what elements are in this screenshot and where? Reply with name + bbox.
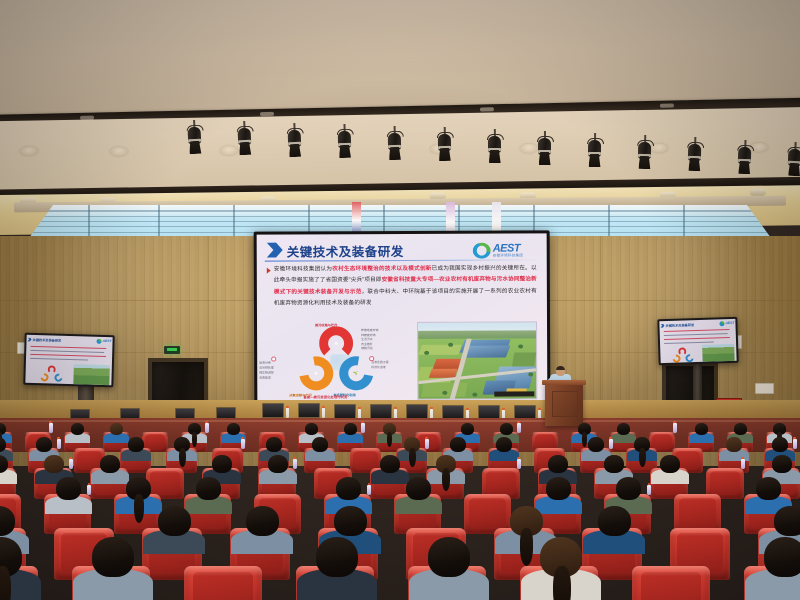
seat-part [74, 448, 105, 452]
audience-head [316, 537, 358, 577]
panel-mullion [18, 226, 782, 227]
wall-seam [208, 236, 209, 416]
node-label-top: 粪污收集与贮存 [315, 322, 337, 327]
audience-head [312, 437, 328, 452]
seat-part [469, 498, 506, 529]
table-nameplate [262, 403, 284, 418]
audience-head [56, 477, 81, 500]
seat-part [706, 468, 744, 473]
table-nameplate [370, 404, 392, 419]
wall-seam [600, 236, 601, 416]
node-icon: ♻ [334, 341, 338, 346]
audience-head [734, 423, 747, 435]
seat-part [254, 494, 301, 500]
cove-clip [750, 189, 766, 196]
seat-part [193, 572, 254, 600]
panel-mullion [18, 216, 782, 217]
recess-fixture [480, 107, 494, 111]
ponytail [134, 494, 145, 523]
monitor-text-line [30, 358, 88, 361]
seat-part [184, 566, 262, 576]
seat-part [641, 572, 702, 600]
water-bottle [367, 485, 371, 495]
monitor-text-line [664, 337, 730, 340]
audience-head [588, 437, 604, 452]
ponytail [442, 468, 450, 491]
seat-part [670, 528, 730, 536]
monitor-diagram-node [684, 353, 695, 364]
seat-part [314, 468, 352, 473]
water-bottle [517, 423, 521, 433]
water-bottle [69, 459, 73, 469]
ceiling-rosette [110, 146, 128, 155]
diagram-note-right: 标准化运维 [371, 365, 385, 369]
audience-head [44, 455, 64, 473]
stage-spotlight-icon [335, 124, 353, 161]
diagram-note-left: 微生物调控 [259, 371, 273, 375]
left-side-monitor[interactable]: 关键技术及装备研发 AEST [23, 333, 114, 387]
water-bottle [241, 439, 245, 449]
audience-head [772, 455, 792, 473]
ponytail [387, 432, 392, 447]
audience-head [726, 437, 742, 452]
monitor-diagram-node [678, 347, 686, 355]
slide-surface: 关键技术及装备研发 AEST 安徽环境科技集团 安徽环境科技集团认为农村生态环境… [257, 233, 548, 404]
monitor-slide-title: 关键技术及装备研发 [32, 337, 61, 343]
ponytail [179, 448, 186, 467]
seat-part [486, 471, 516, 495]
photo-caption-bar [494, 391, 534, 396]
seat-part [679, 498, 716, 529]
water-bottle [793, 439, 797, 449]
stage-spotlight-icon [185, 120, 204, 157]
right-monitor-screen: 关键技术及装备研发 AEST [659, 319, 736, 363]
seat [632, 566, 710, 600]
audience-head [756, 477, 781, 500]
diagram-note-left: 装备集成 [259, 376, 271, 380]
stage-spotlight-icon [586, 133, 603, 169]
stage-spotlight-icon [536, 131, 553, 167]
stage-spotlight-icon [686, 137, 704, 173]
seat-part [406, 528, 466, 536]
monitor-text-line [664, 333, 728, 336]
table-nameplate [298, 403, 320, 418]
diagram-note-top: 城镇污泥 [361, 347, 373, 351]
ponytail [0, 566, 11, 600]
auditorium-photo: 消防 关键技术及装备研发 AEST 安徽环境科技集团 安徽环境科技集团认为农村生… [0, 0, 800, 600]
audience-head [266, 437, 282, 452]
ponytail [520, 528, 534, 566]
audience-head [604, 455, 624, 473]
table-nameplate [406, 404, 428, 419]
audience-head [100, 455, 120, 473]
audience-head [36, 437, 52, 452]
diagram-caption: 畜禽—粪污资源化处理与利用 [303, 394, 347, 399]
slide-title: 关键技术及装备研发 [287, 241, 404, 261]
seat-part [649, 432, 675, 435]
ponytail [639, 448, 646, 467]
left-monitor-screen: 关键技术及装备研发 AEST [25, 335, 112, 385]
seat-part [534, 448, 565, 452]
monitor-logo: AEST [96, 339, 110, 344]
panel-mullion [18, 210, 782, 211]
panel-mullion [18, 221, 782, 222]
aerial-park-photo [417, 321, 537, 400]
audience-head [196, 477, 221, 500]
seat-part [532, 432, 558, 435]
diagram-node-top: ♻ [319, 326, 353, 360]
ponytail [582, 432, 587, 447]
audience-head [548, 455, 568, 473]
seat-part [350, 448, 381, 452]
title-divider [265, 259, 539, 262]
audience-head [428, 537, 470, 577]
water-bottle [673, 423, 677, 433]
seat-part [259, 432, 285, 435]
monitor-text-line [30, 346, 106, 349]
water-bottle [609, 439, 613, 449]
podium-top [542, 380, 586, 385]
audience-head [71, 423, 84, 435]
body-run: 安徽环境科技集团认为 [274, 266, 332, 272]
water-bottle [361, 423, 365, 433]
chevron-right-icon [660, 324, 664, 328]
cycle-diagram: ♻ ⚙ 🌱 粪污收集与贮存 厌氧发酵与产沼 有机肥料化利用 固液分离高效预处理微… [275, 326, 403, 399]
photo-element [472, 393, 477, 397]
seat-part [415, 432, 441, 435]
seat-part [146, 468, 184, 473]
photo-element [442, 391, 447, 395]
monitor-diagram-node [39, 372, 50, 383]
stage-spotlight-icon [736, 139, 754, 175]
stage-spotlight-icon [285, 122, 303, 159]
diagram-note-top: 生活污水 [361, 337, 373, 341]
seat-part [25, 432, 51, 435]
seat-part [142, 432, 168, 435]
seat-part [674, 494, 721, 500]
ceiling-rosette [220, 146, 238, 155]
audience-head [246, 506, 279, 536]
stage-spotlight-icon [636, 135, 653, 171]
led-presentation-screen[interactable]: 关键技术及装备研发 AEST 安徽环境科技集团 安徽环境科技集团认为农村生态环境… [254, 230, 551, 407]
water-bottle [286, 408, 289, 418]
logo-swoosh-icon [473, 243, 491, 259]
audience-head [334, 506, 367, 536]
audience-head [110, 423, 123, 435]
seat-part [150, 471, 180, 495]
audience-head [305, 423, 318, 435]
seat-part [212, 448, 243, 452]
audience-head [546, 477, 571, 500]
monitor-slide-title: 关键技术及装备研发 [665, 322, 694, 328]
water-bottle [205, 423, 209, 433]
node-icon: ⚙ [313, 370, 319, 376]
monitor-text-line [30, 350, 104, 353]
speaker-head [556, 366, 565, 376]
water-bottle [87, 485, 91, 495]
seat-part [464, 494, 511, 500]
water-bottle [425, 439, 429, 449]
audience-head [500, 423, 513, 435]
podium-front-panel [552, 391, 578, 417]
audience-head [774, 506, 800, 536]
audience-head [227, 423, 240, 435]
monitor-logo: AEST [719, 321, 733, 326]
note-dot [271, 357, 276, 362]
logo-wordmark: AEST [102, 339, 111, 343]
water-bottle [741, 459, 745, 469]
audience-head [336, 477, 361, 500]
seat [184, 566, 262, 600]
water-bottle [57, 439, 61, 449]
logo-swoosh-icon [96, 339, 101, 344]
monitor-photo-thumb [73, 364, 110, 385]
seat-part [672, 448, 703, 452]
monitor-diagram-node [48, 365, 56, 373]
ceiling-rosette [20, 146, 38, 155]
seat-part [652, 434, 672, 450]
right-side-monitor[interactable]: 关键技术及装备研发 AEST [657, 317, 738, 365]
recess-fixture [660, 103, 674, 107]
audience-head [616, 477, 641, 500]
monitor-diagram-node [53, 372, 64, 383]
node-icon: 🌱 [353, 370, 360, 377]
logo-swoosh-icon [719, 321, 724, 326]
audience-head [344, 423, 357, 435]
photo-element [448, 343, 453, 347]
exit-sign-icon [164, 346, 180, 354]
photo-element [518, 344, 523, 348]
audience-head [617, 423, 630, 435]
diagram-note-left: 固液分离 [259, 361, 271, 365]
seat-part [0, 494, 21, 500]
logo-wordmark: AEST [725, 321, 734, 325]
water-bottle [517, 459, 521, 469]
diagram-note-right: 沼液还田工程 [371, 360, 388, 364]
photo-element [424, 351, 429, 355]
audience-head [598, 506, 631, 536]
monitor-text-line [30, 354, 106, 357]
slide-header: 关键技术及装备研发 AEST 安徽环境科技集团 [267, 240, 539, 259]
bullet-arrow-icon [267, 268, 271, 274]
photo-element [528, 372, 533, 376]
audience-head [212, 455, 232, 473]
stage-spotlight-icon [235, 121, 254, 158]
audience-head [128, 437, 144, 452]
stage-spotlight-icon [486, 129, 503, 165]
seat-part [632, 566, 710, 576]
stage-spotlight-icon [386, 125, 404, 161]
diagram-note-left: 高效预处理 [259, 366, 273, 370]
stage-spotlight-icon [436, 127, 454, 163]
audience-head [461, 423, 474, 435]
audience-head [380, 455, 400, 473]
ponytail [409, 448, 416, 467]
audience-head [450, 437, 466, 452]
chevron-right-icon [267, 243, 283, 258]
slide-body-text: 安徽环境科技集团认为农村生态环境整治的技术以及模式创新已成为我国实现乡村振兴的关… [274, 263, 537, 310]
table-nameplate [334, 404, 356, 419]
water-bottle [49, 423, 53, 433]
photo-element [512, 352, 536, 366]
body-highlight-run: 农村生态环境整治的技术以及模式创新 [332, 266, 431, 272]
audience-head [772, 437, 788, 452]
monitor-text-line [664, 329, 730, 332]
logo-subtext: 安徽环境科技集团 [493, 253, 523, 258]
ponytail [192, 432, 197, 447]
audience-head [406, 477, 431, 500]
water-bottle [647, 485, 651, 495]
water-bottle [293, 459, 297, 469]
podium [545, 382, 583, 426]
monitor-photo-thumb [702, 344, 735, 362]
audience-head [92, 537, 134, 577]
stage-spotlight-icon [785, 142, 800, 179]
note-dot [369, 356, 374, 361]
seat-part [54, 528, 114, 536]
audience-head [158, 506, 191, 536]
wall-switch-plate[interactable] [755, 383, 774, 394]
seat-part [482, 468, 520, 473]
audience-head [695, 423, 708, 435]
chevron-right-icon [28, 337, 32, 341]
audience-head [268, 455, 288, 473]
ponytail [553, 566, 571, 600]
audience-head [496, 437, 512, 452]
audience-head [660, 455, 680, 473]
water-bottle [322, 408, 325, 418]
audience-head [764, 537, 800, 577]
seat-part [710, 471, 740, 495]
